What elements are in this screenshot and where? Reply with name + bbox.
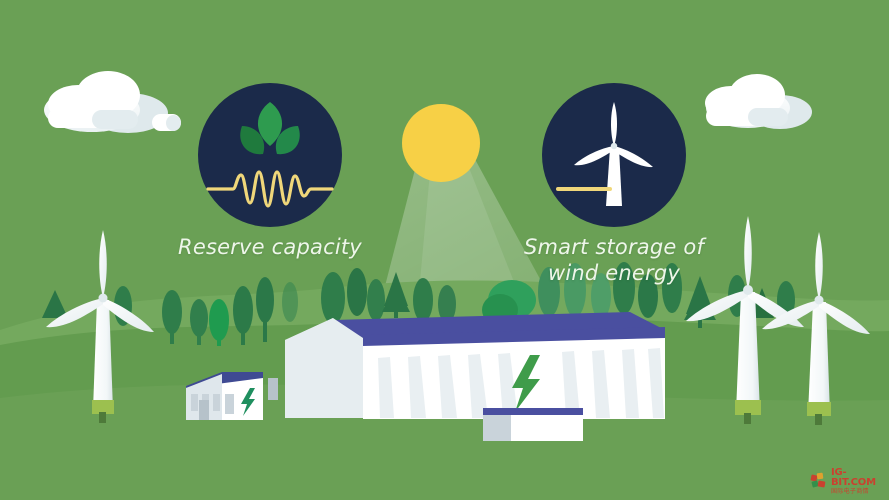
cloud-small-left	[152, 114, 181, 131]
ig-bit-watermark: IG-BIT.COM 国际电子商情	[811, 468, 883, 494]
ground-line-accent	[556, 187, 612, 191]
sun	[402, 104, 480, 182]
illustration-canvas: Reserve capacity Smart storage of wind e…	[0, 0, 889, 500]
scene-svg	[0, 0, 889, 500]
watermark-logo-icon	[811, 473, 828, 490]
badge-reserve-capacity[interactable]	[198, 83, 342, 227]
badge-smart-storage[interactable]	[542, 83, 686, 227]
watermark-text: IG-BIT.COM 国际电子商情	[831, 468, 883, 495]
platform-shed	[483, 408, 583, 441]
watermark-sub-text: 国际电子商情	[831, 489, 883, 495]
watermark-main-text: IG-BIT.COM	[831, 468, 883, 488]
